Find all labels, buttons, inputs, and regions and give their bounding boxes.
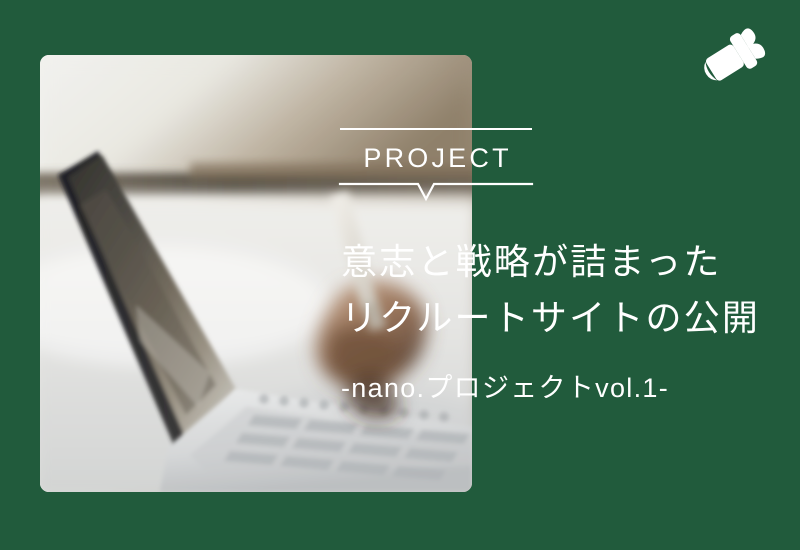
subtitle: -nano.プロジェクトvol.1-	[341, 370, 669, 406]
speech-tail-icon	[340, 182, 532, 202]
project-label-block: PROJECT	[340, 126, 532, 204]
project-banner: PROJECT 意志と戦略が詰まった リクルートサイトの公開 -nano.プロジ…	[0, 0, 800, 550]
project-label: PROJECT	[340, 140, 532, 176]
headline-line-2: リクルートサイトの公開	[341, 290, 791, 346]
label-rule-bottom	[340, 182, 532, 202]
headline-line-1: 意志と戦略が詰まった	[341, 234, 791, 290]
nano-mark-logo-icon	[697, 25, 767, 89]
headline: 意志と戦略が詰まった リクルートサイトの公開	[341, 234, 791, 346]
label-rule-top	[340, 128, 532, 130]
brand-logo[interactable]	[697, 25, 767, 89]
